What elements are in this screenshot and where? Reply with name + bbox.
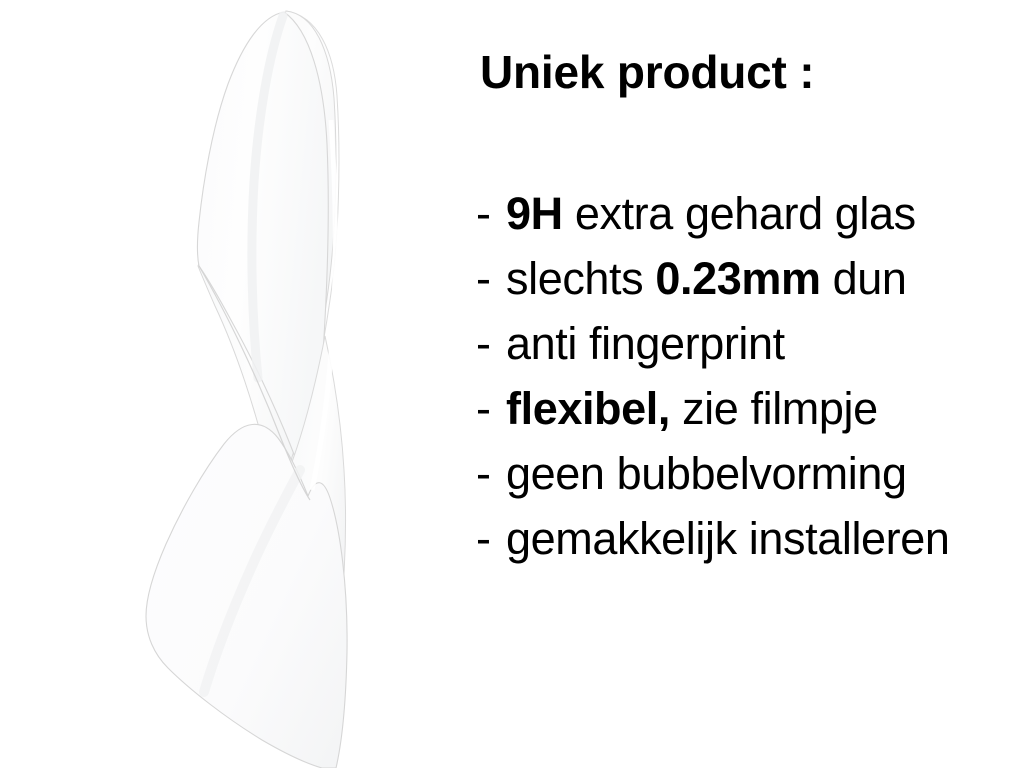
list-item: -geen bubbelvorming — [476, 441, 1024, 506]
bullet-dash: - — [476, 246, 506, 311]
feature-text: geen bubbelvorming — [506, 448, 907, 499]
bullet-dash: - — [476, 441, 506, 506]
feature-text: anti fingerprint — [506, 318, 785, 369]
copy-panel: Uniek product : -9H extra gehard glas -s… — [460, 0, 1024, 768]
product-image — [0, 0, 460, 768]
feature-text: dun — [821, 253, 907, 304]
feature-highlight: 0.23mm — [655, 253, 820, 304]
list-item: -slechts 0.23mm dun — [476, 246, 1024, 311]
bullet-dash: - — [476, 506, 506, 571]
feature-highlight: 9H — [506, 188, 563, 239]
list-item: -anti fingerprint — [476, 311, 1024, 376]
list-item: -9H extra gehard glas — [476, 181, 1024, 246]
feature-highlight: flexibel, — [506, 383, 670, 434]
feature-list: -9H extra gehard glas -slechts 0.23mm du… — [476, 181, 1024, 571]
feature-text: gemakkelijk installeren — [506, 513, 950, 564]
list-item: -flexibel, zie filmpje — [476, 376, 1024, 441]
bullet-dash: - — [476, 376, 506, 441]
page-title: Uniek product : — [480, 48, 814, 96]
feature-text: slechts — [506, 253, 655, 304]
feature-text: zie filmpje — [670, 383, 878, 434]
list-item: -gemakkelijk installeren — [476, 506, 1024, 571]
feature-text: extra gehard glas — [563, 188, 916, 239]
bullet-dash: - — [476, 311, 506, 376]
bullet-dash: - — [476, 181, 506, 246]
product-promo-slide: Uniek product : -9H extra gehard glas -s… — [0, 0, 1024, 768]
